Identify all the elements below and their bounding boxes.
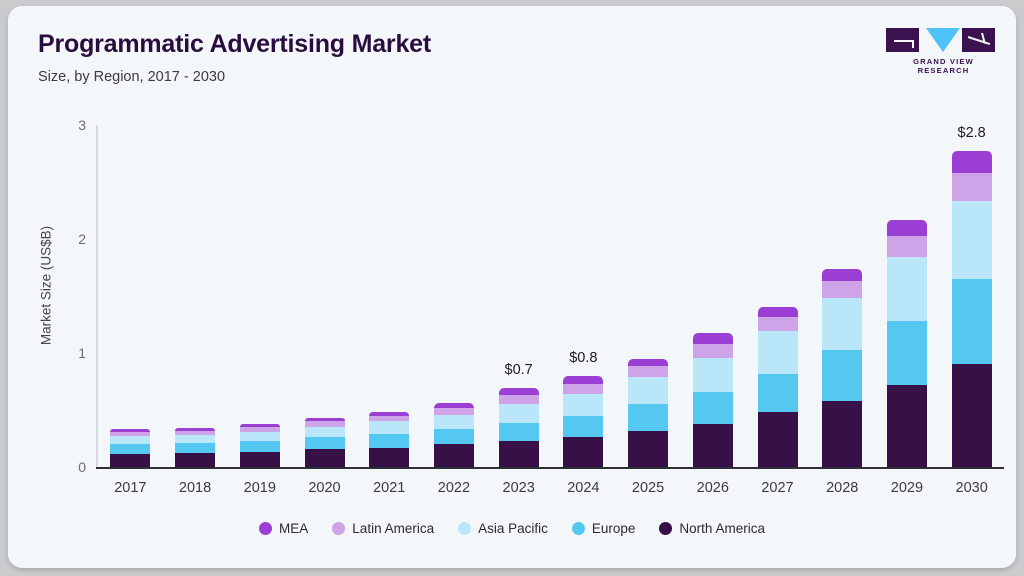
x-tick-2023: 2023 xyxy=(487,480,551,496)
bar-segment-europe[interactable] xyxy=(369,434,409,448)
legend-swatch-icon xyxy=(572,522,585,535)
bar-segment-latin-america[interactable] xyxy=(434,408,474,415)
stacked-bar[interactable] xyxy=(434,403,474,467)
bar-segment-north-america[interactable] xyxy=(563,437,603,467)
bar-segment-latin-america[interactable] xyxy=(499,395,539,404)
bar-segment-europe[interactable] xyxy=(628,404,668,430)
bar-segment-mea[interactable] xyxy=(434,403,474,408)
bar-segment-asia-pacific[interactable] xyxy=(693,358,733,392)
bar-segment-asia-pacific[interactable] xyxy=(822,298,862,349)
x-axis-line xyxy=(96,467,1004,469)
x-tick-2025: 2025 xyxy=(616,480,680,496)
bar-segment-mea[interactable] xyxy=(240,424,280,427)
bar-segment-north-america[interactable] xyxy=(887,385,927,467)
legend-item-europe[interactable]: Europe xyxy=(572,521,636,536)
bar-segment-mea[interactable] xyxy=(563,376,603,384)
bar-segment-latin-america[interactable] xyxy=(952,173,992,202)
bar-segment-north-america[interactable] xyxy=(628,431,668,467)
bar-group-2027[interactable] xyxy=(746,116,810,467)
bar-segment-north-america[interactable] xyxy=(240,452,280,467)
bar-segment-mea[interactable] xyxy=(822,269,862,282)
bar-segment-north-america[interactable] xyxy=(758,412,798,467)
bar-segment-asia-pacific[interactable] xyxy=(240,432,280,441)
bar-group-2030[interactable]: $2.8 xyxy=(940,116,1004,467)
bar-segment-north-america[interactable] xyxy=(822,401,862,467)
bar-group-2020[interactable] xyxy=(293,116,357,467)
bar-segment-asia-pacific[interactable] xyxy=(499,404,539,422)
stacked-bar[interactable] xyxy=(240,424,280,467)
bar-segment-mea[interactable] xyxy=(952,151,992,173)
legend-label: Latin America xyxy=(352,521,434,536)
legend-label: Europe xyxy=(592,521,636,536)
x-tick-2017: 2017 xyxy=(98,480,162,496)
bar-segment-mea[interactable] xyxy=(110,429,150,431)
stacked-bar[interactable] xyxy=(693,332,733,467)
bar-segment-europe[interactable] xyxy=(822,350,862,401)
bar-segment-latin-america[interactable] xyxy=(758,317,798,332)
bar-segment-europe[interactable] xyxy=(110,444,150,454)
bar-segment-asia-pacific[interactable] xyxy=(563,394,603,416)
logo-g-icon xyxy=(886,28,919,52)
bar-segment-europe[interactable] xyxy=(434,429,474,444)
x-tick-2021: 2021 xyxy=(357,480,421,496)
legend-label: North America xyxy=(679,521,765,536)
stacked-bar[interactable] xyxy=(822,269,862,467)
bar-segment-asia-pacific[interactable] xyxy=(952,201,992,279)
bar-segment-north-america[interactable] xyxy=(952,364,992,467)
bar-segment-europe[interactable] xyxy=(499,423,539,441)
bar-segment-latin-america[interactable] xyxy=(175,431,215,436)
bar-segment-mea[interactable] xyxy=(305,418,345,421)
legend-swatch-icon xyxy=(458,522,471,535)
bar-segment-north-america[interactable] xyxy=(434,444,474,467)
bar-group-2028[interactable] xyxy=(810,116,874,467)
x-tick-2026: 2026 xyxy=(681,480,745,496)
bar-segment-north-america[interactable] xyxy=(305,449,345,467)
bar-segment-asia-pacific[interactable] xyxy=(887,257,927,321)
page-title: Programmatic Advertising Market xyxy=(38,30,431,59)
y-tick-3: 3 xyxy=(60,117,86,133)
stacked-bar[interactable] xyxy=(887,220,927,467)
stacked-bar[interactable] xyxy=(369,412,409,467)
bar-group-2019[interactable] xyxy=(228,116,292,467)
x-tick-2018: 2018 xyxy=(163,480,227,496)
bar-group-2029[interactable] xyxy=(875,116,939,467)
logo-triangle-icon xyxy=(926,28,960,52)
bar-segment-europe[interactable] xyxy=(305,437,345,448)
x-tick-2029: 2029 xyxy=(875,480,939,496)
stacked-bar[interactable] xyxy=(305,418,345,467)
y-tick-2: 2 xyxy=(60,231,86,247)
legend-swatch-icon xyxy=(259,522,272,535)
bar-value-label-2024: $0.8 xyxy=(543,350,623,366)
bar-segment-europe[interactable] xyxy=(887,321,927,385)
x-tick-2019: 2019 xyxy=(228,480,292,496)
bar-segment-europe[interactable] xyxy=(175,443,215,453)
legend-item-asia-pacific[interactable]: Asia Pacific xyxy=(458,521,548,536)
bar-segment-asia-pacific[interactable] xyxy=(305,427,345,437)
legend-item-latin-america[interactable]: Latin America xyxy=(332,521,434,536)
stacked-bar[interactable] xyxy=(952,151,992,467)
bar-segment-latin-america[interactable] xyxy=(240,427,280,432)
bar-segment-asia-pacific[interactable] xyxy=(434,415,474,430)
x-tick-2024: 2024 xyxy=(551,480,615,496)
bar-group-2017[interactable] xyxy=(98,116,162,467)
bar-segment-asia-pacific[interactable] xyxy=(175,435,215,443)
bar-segment-latin-america[interactable] xyxy=(693,344,733,358)
bar-segment-mea[interactable] xyxy=(693,333,733,344)
bar-segment-north-america[interactable] xyxy=(693,424,733,467)
bar-segment-north-america[interactable] xyxy=(110,454,150,467)
bar-segment-latin-america[interactable] xyxy=(822,281,862,298)
legend-label: MEA xyxy=(279,521,308,536)
bar-value-label-2030: $2.8 xyxy=(932,125,1012,141)
stacked-bar[interactable] xyxy=(499,388,539,467)
bar-segment-mea[interactable] xyxy=(758,307,798,316)
x-tick-2028: 2028 xyxy=(810,480,874,496)
bar-segment-latin-america[interactable] xyxy=(563,384,603,394)
legend-swatch-icon xyxy=(332,522,345,535)
logo-text: GRAND VIEW RESEARCH xyxy=(886,57,1001,75)
bar-segment-asia-pacific[interactable] xyxy=(110,436,150,444)
legend-item-mea[interactable]: MEA xyxy=(259,521,308,536)
bar-segment-latin-america[interactable] xyxy=(628,366,668,377)
grand-view-research-logo: GRAND VIEW RESEARCH xyxy=(886,28,1001,68)
bar-group-2025[interactable] xyxy=(616,116,680,467)
bar-segment-asia-pacific[interactable] xyxy=(758,331,798,373)
legend-swatch-icon xyxy=(659,522,672,535)
bar-segment-latin-america[interactable] xyxy=(369,416,409,422)
bar-segment-mea[interactable] xyxy=(887,220,927,236)
bar-segment-asia-pacific[interactable] xyxy=(628,377,668,404)
y-axis-label: Market Size (US$B) xyxy=(39,186,54,386)
bar-segment-mea[interactable] xyxy=(499,388,539,395)
bar-segment-mea[interactable] xyxy=(369,412,409,415)
stacked-bar[interactable] xyxy=(563,376,603,467)
stacked-bar[interactable] xyxy=(110,429,150,467)
x-tick-2027: 2027 xyxy=(746,480,810,496)
x-tick-2030: 2030 xyxy=(940,480,1004,496)
bar-group-2023[interactable]: $0.7 xyxy=(487,116,551,467)
bar-group-2024[interactable]: $0.8 xyxy=(551,116,615,467)
bar-segment-europe[interactable] xyxy=(240,441,280,452)
bar-group-2018[interactable] xyxy=(163,116,227,467)
bar-segment-asia-pacific[interactable] xyxy=(369,421,409,434)
bar-segment-mea[interactable] xyxy=(175,428,215,430)
legend-label: Asia Pacific xyxy=(478,521,548,536)
bar-segment-europe[interactable] xyxy=(952,279,992,365)
chart-legend: MEALatin AmericaAsia PacificEuropeNorth … xyxy=(8,521,1016,536)
bar-group-2022[interactable] xyxy=(422,116,486,467)
y-tick-0: 0 xyxy=(60,459,86,475)
stacked-bar[interactable] xyxy=(758,307,798,467)
bar-segment-latin-america[interactable] xyxy=(110,432,150,437)
plot-area: $0.7$0.8$2.8 xyxy=(98,116,1004,467)
bar-group-2026[interactable] xyxy=(681,116,745,467)
bar-group-2021[interactable] xyxy=(357,116,421,467)
bar-segment-north-america[interactable] xyxy=(499,441,539,467)
stacked-bar[interactable] xyxy=(175,428,215,467)
bar-segment-north-america[interactable] xyxy=(369,448,409,467)
bar-segment-north-america[interactable] xyxy=(175,453,215,467)
legend-item-north-america[interactable]: North America xyxy=(659,521,765,536)
x-tick-2022: 2022 xyxy=(422,480,486,496)
x-tick-2020: 2020 xyxy=(293,480,357,496)
bar-segment-latin-america[interactable] xyxy=(887,236,927,258)
chart-subtitle: Size, by Region, 2017 - 2030 xyxy=(38,69,225,85)
bar-segment-latin-america[interactable] xyxy=(305,421,345,427)
bar-segment-europe[interactable] xyxy=(693,392,733,424)
bar-segment-mea[interactable] xyxy=(628,359,668,366)
stacked-bar[interactable] xyxy=(628,359,668,467)
chart-card: Programmatic Advertising Market Size, by… xyxy=(8,6,1016,568)
bar-segment-europe[interactable] xyxy=(563,416,603,438)
bar-segment-europe[interactable] xyxy=(758,374,798,413)
logo-r-icon xyxy=(962,28,995,52)
y-tick-1: 1 xyxy=(60,345,86,361)
